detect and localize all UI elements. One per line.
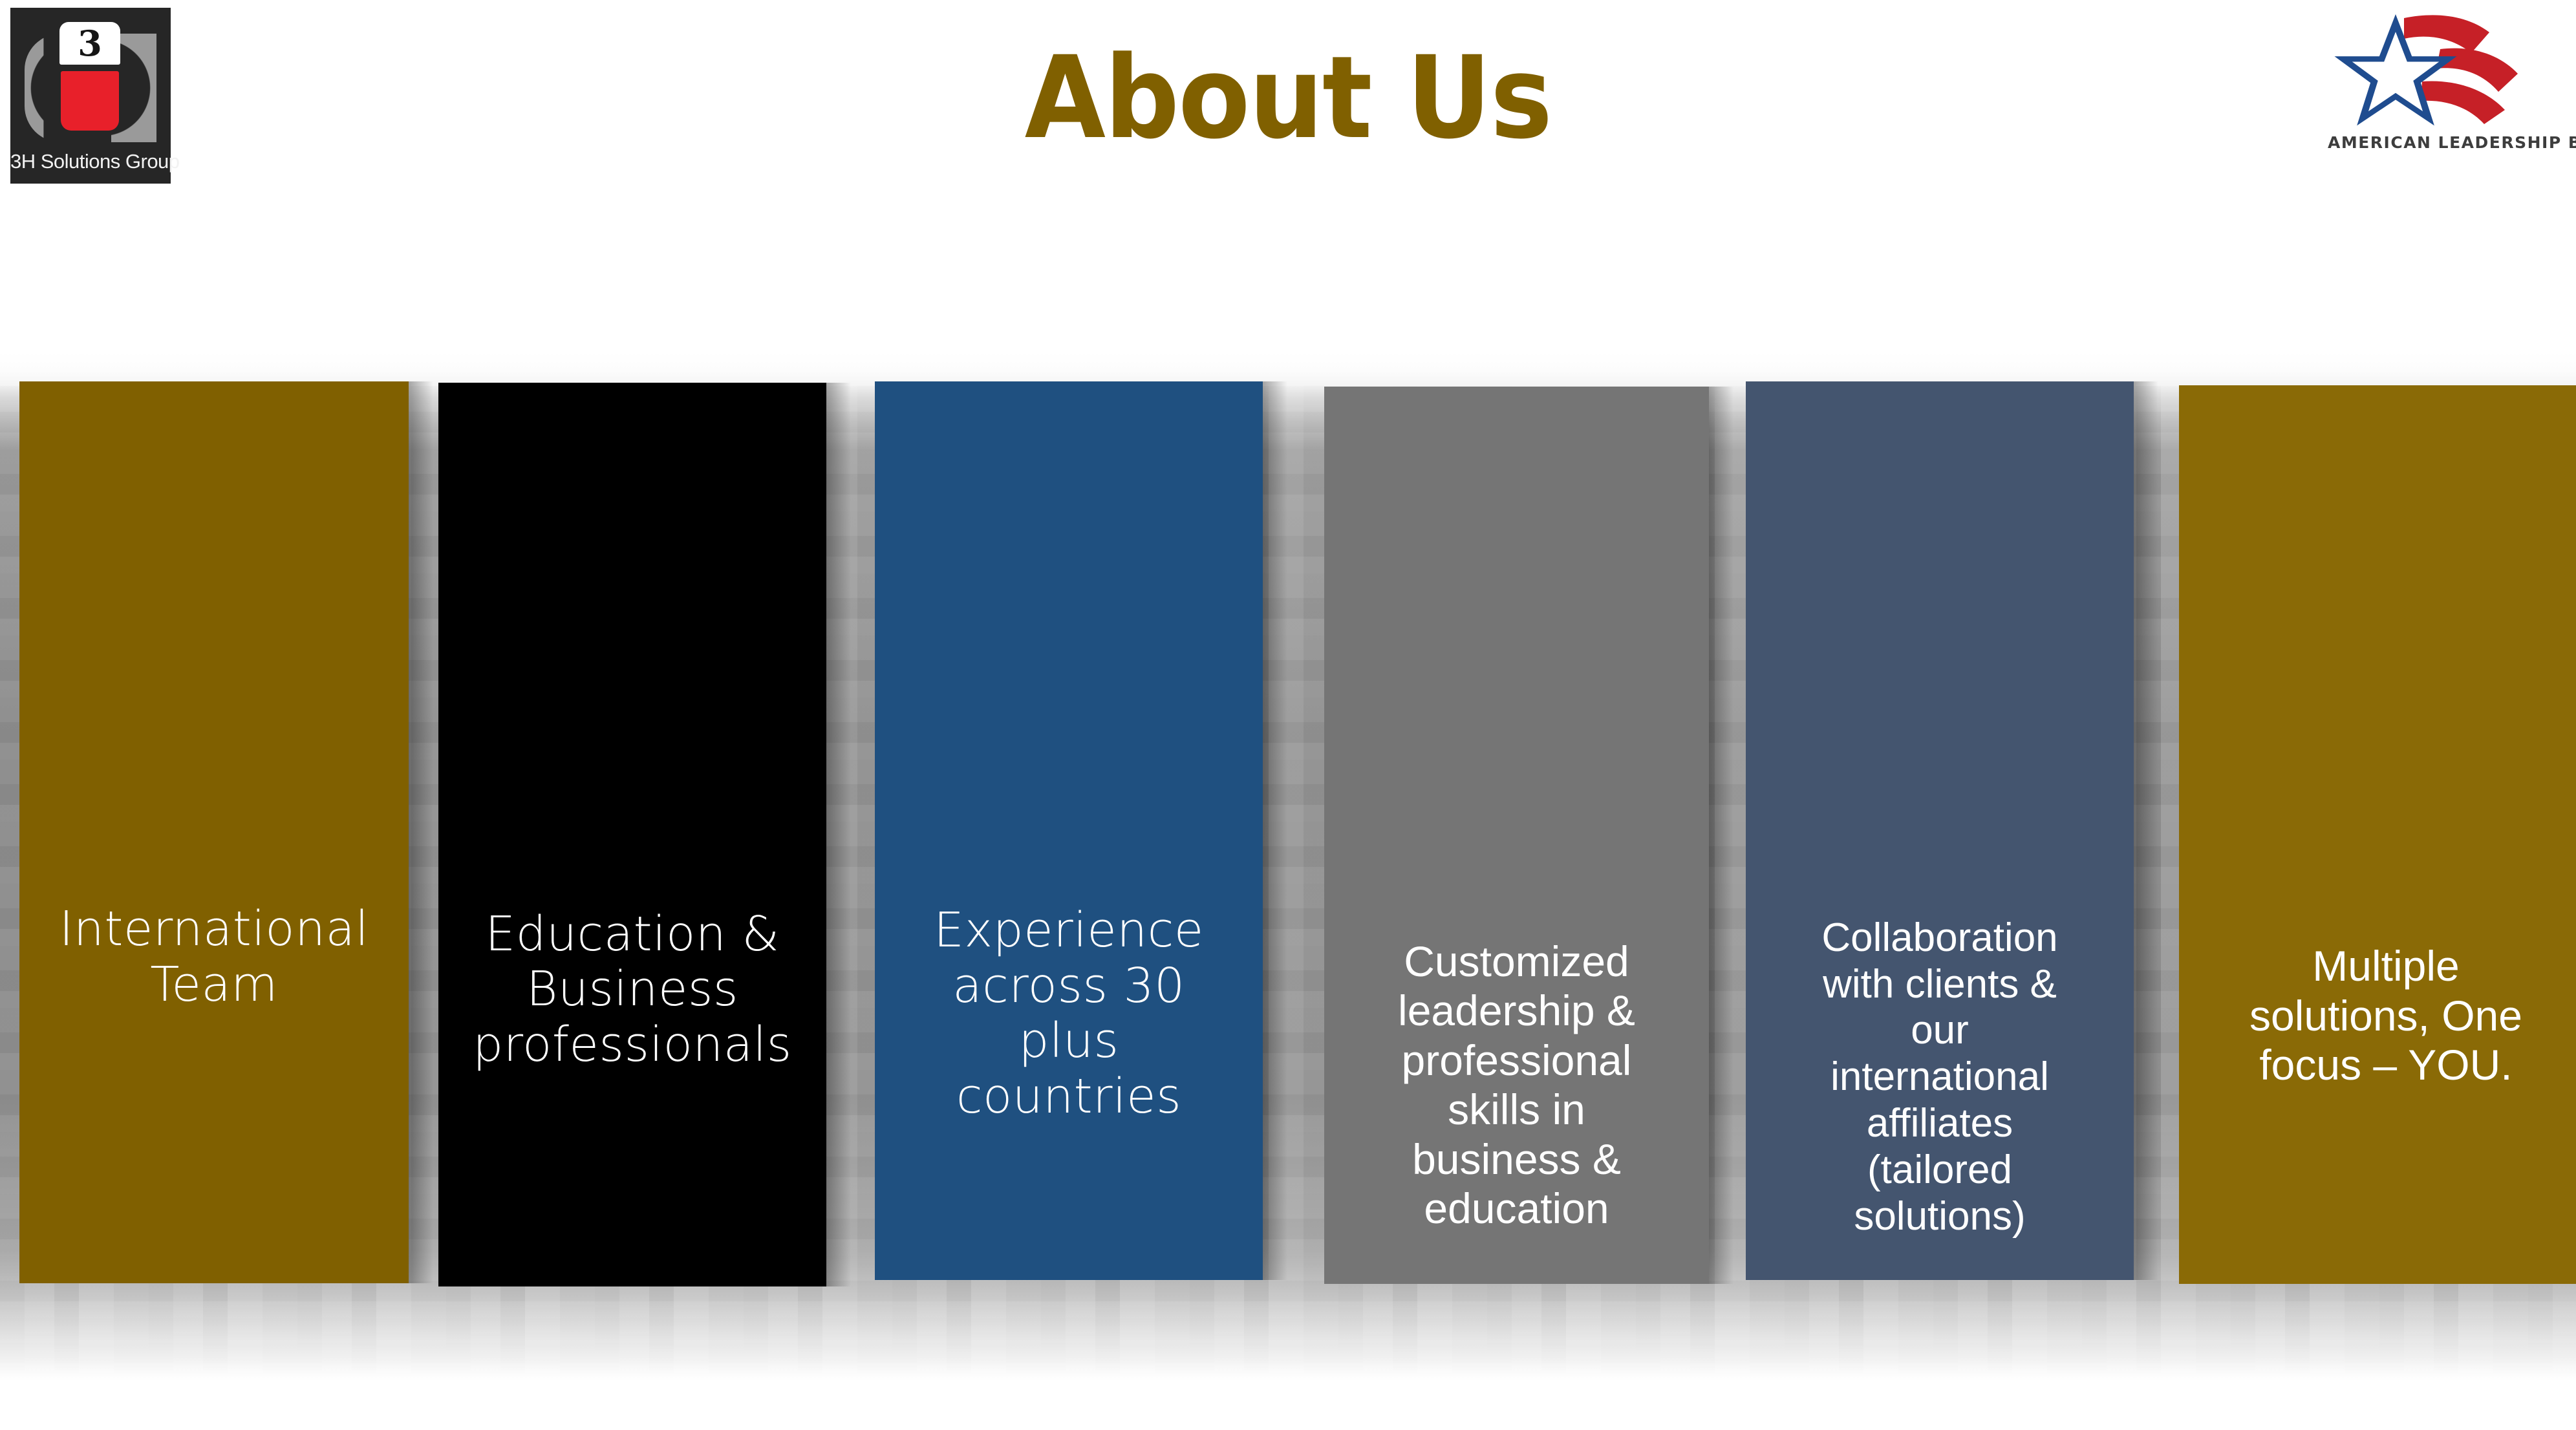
slide-about-us: 3 3H Solutions Group About Us AMERICAN L… <box>0 0 2576 1430</box>
column-edge-shadow <box>826 383 851 1286</box>
column-edge-shadow <box>409 381 433 1283</box>
column-multiple-solutions-one-focus-you[interactable]: Multiple solutions, One focus – YOU. <box>2179 385 2576 1284</box>
column-education-business-professionals[interactable]: Education & Business professionals <box>438 383 826 1286</box>
column-international-team[interactable]: International Team <box>19 381 409 1283</box>
about-columns-group: International Team Education & Business … <box>0 0 2576 1430</box>
column-label: International Team <box>19 902 409 1013</box>
column-experience-across-30-plus-countries[interactable]: Experience across 30 plus countries <box>875 381 1263 1280</box>
column-label: Education & Business professionals <box>438 907 826 1073</box>
column-label: Collaboration with clients & our interna… <box>1746 915 2134 1240</box>
column-edge-shadow <box>2134 381 2158 1280</box>
column-edge-shadow <box>1263 381 1287 1280</box>
column-label: Multiple solutions, One focus – YOU. <box>2179 941 2576 1090</box>
column-collaboration-with-clients-affiliates[interactable]: Collaboration with clients & our interna… <box>1746 381 2134 1280</box>
column-label: Customized leadership & professional ski… <box>1324 937 1709 1233</box>
column-label: Experience across 30 plus countries <box>875 903 1263 1125</box>
column-customized-leadership-professional-skills[interactable]: Customized leadership & professional ski… <box>1324 387 1709 1284</box>
column-edge-shadow <box>1709 387 1733 1284</box>
